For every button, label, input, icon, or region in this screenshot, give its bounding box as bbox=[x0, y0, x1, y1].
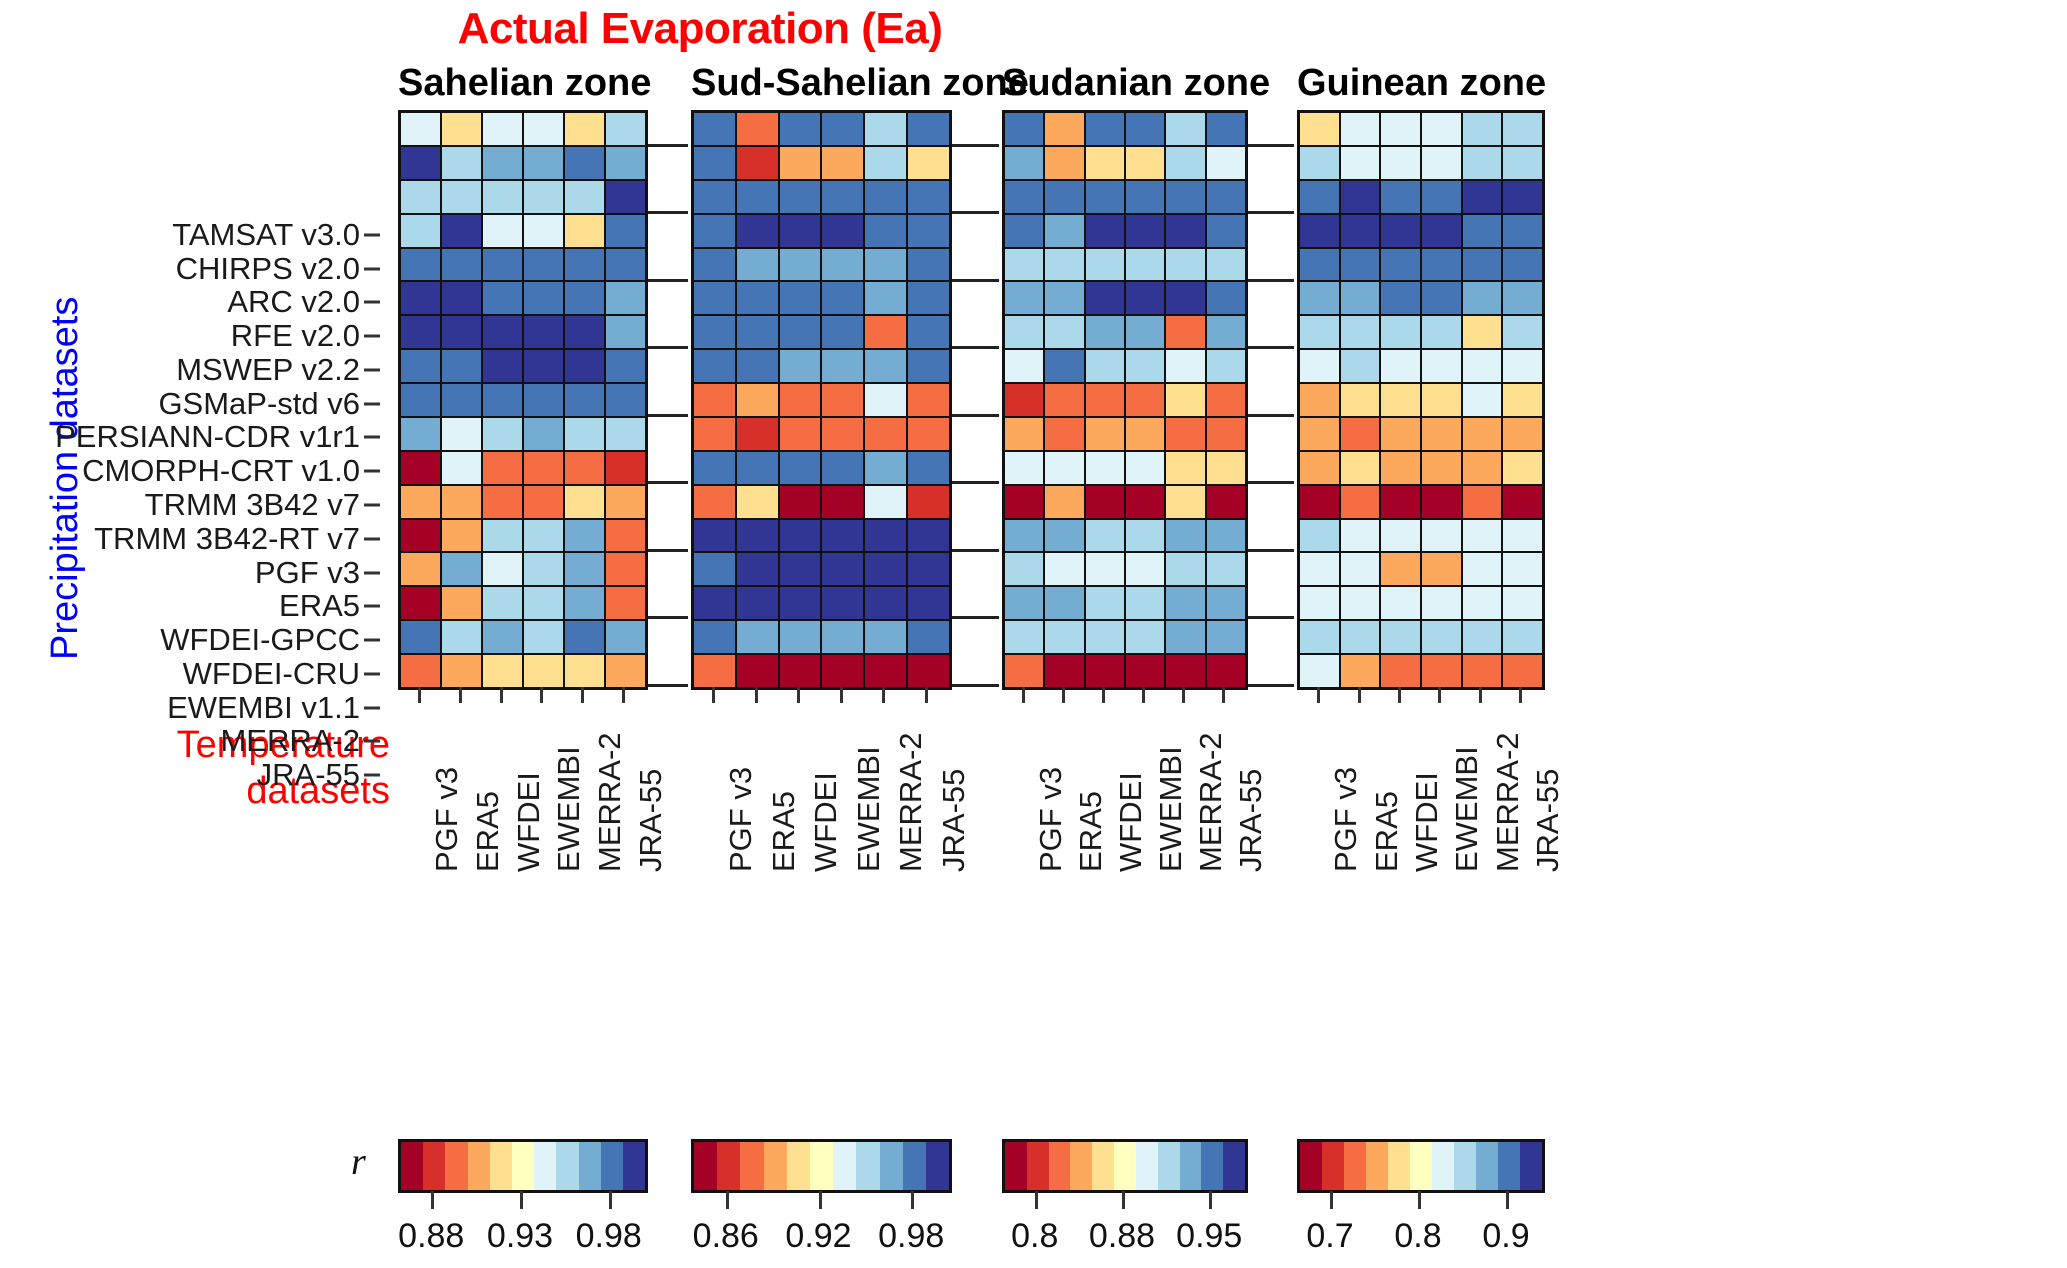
heatmap-cell[interactable] bbox=[908, 350, 949, 382]
heatmap-cell[interactable] bbox=[865, 316, 906, 348]
heatmap-cell[interactable] bbox=[1300, 418, 1339, 450]
heatmap-cell[interactable] bbox=[822, 587, 863, 619]
heatmap-cell[interactable] bbox=[908, 181, 949, 213]
heatmap-cell[interactable] bbox=[1005, 181, 1043, 213]
heatmap-cell[interactable] bbox=[1381, 553, 1420, 585]
heatmap-cell[interactable] bbox=[908, 384, 949, 416]
heatmap-cell[interactable] bbox=[1126, 418, 1164, 450]
heatmap-cell[interactable] bbox=[1005, 282, 1043, 314]
heatmap-cell[interactable] bbox=[780, 147, 821, 179]
heatmap-cell[interactable] bbox=[565, 621, 604, 653]
heatmap-cell[interactable] bbox=[1381, 350, 1420, 382]
heatmap-cell[interactable] bbox=[1422, 486, 1461, 518]
heatmap-cell[interactable] bbox=[1207, 282, 1245, 314]
heatmap-cell[interactable] bbox=[737, 418, 778, 450]
heatmap-cell[interactable] bbox=[483, 452, 522, 484]
heatmap-cell[interactable] bbox=[1341, 316, 1380, 348]
heatmap-cell[interactable] bbox=[1126, 282, 1164, 314]
heatmap-cell[interactable] bbox=[606, 418, 645, 450]
heatmap-cell[interactable] bbox=[565, 452, 604, 484]
heatmap-cell[interactable] bbox=[1300, 316, 1339, 348]
heatmap-cell[interactable] bbox=[1086, 621, 1124, 653]
heatmap-cell[interactable] bbox=[1126, 452, 1164, 484]
heatmap-cell[interactable] bbox=[1503, 215, 1542, 247]
heatmap-cell[interactable] bbox=[1126, 486, 1164, 518]
heatmap-cell[interactable] bbox=[1463, 587, 1502, 619]
heatmap-cell[interactable] bbox=[1463, 621, 1502, 653]
heatmap-cell[interactable] bbox=[1005, 621, 1043, 653]
heatmap-cell[interactable] bbox=[780, 587, 821, 619]
heatmap-cell[interactable] bbox=[1126, 520, 1164, 552]
heatmap-cell[interactable] bbox=[442, 655, 481, 687]
heatmap-cell[interactable] bbox=[1503, 282, 1542, 314]
heatmap-cell[interactable] bbox=[1300, 486, 1339, 518]
heatmap-cell[interactable] bbox=[565, 181, 604, 213]
heatmap-cell[interactable] bbox=[865, 621, 906, 653]
heatmap-cell[interactable] bbox=[1463, 655, 1502, 687]
heatmap-cell[interactable] bbox=[401, 520, 440, 552]
heatmap-cell[interactable] bbox=[1086, 452, 1124, 484]
heatmap-cell[interactable] bbox=[1341, 655, 1380, 687]
heatmap-cell[interactable] bbox=[606, 282, 645, 314]
heatmap-cell[interactable] bbox=[694, 181, 735, 213]
heatmap-cell[interactable] bbox=[1005, 147, 1043, 179]
heatmap-cell[interactable] bbox=[524, 621, 563, 653]
heatmap-cell[interactable] bbox=[401, 316, 440, 348]
heatmap-cell[interactable] bbox=[1045, 621, 1083, 653]
heatmap-cell[interactable] bbox=[908, 621, 949, 653]
heatmap-cell[interactable] bbox=[1045, 418, 1083, 450]
heatmap-cell[interactable] bbox=[483, 249, 522, 281]
heatmap-cell[interactable] bbox=[524, 249, 563, 281]
heatmap-cell[interactable] bbox=[822, 553, 863, 585]
heatmap-cell[interactable] bbox=[737, 655, 778, 687]
heatmap-cell[interactable] bbox=[780, 316, 821, 348]
heatmap-cell[interactable] bbox=[565, 520, 604, 552]
heatmap-cell[interactable] bbox=[1086, 350, 1124, 382]
heatmap-cell[interactable] bbox=[737, 621, 778, 653]
heatmap-cell[interactable] bbox=[694, 452, 735, 484]
heatmap-cell[interactable] bbox=[442, 147, 481, 179]
heatmap-cell[interactable] bbox=[606, 181, 645, 213]
heatmap-cell[interactable] bbox=[1166, 553, 1204, 585]
heatmap-cell[interactable] bbox=[1422, 452, 1461, 484]
heatmap-cell[interactable] bbox=[780, 249, 821, 281]
heatmap-cell[interactable] bbox=[694, 587, 735, 619]
heatmap-cell[interactable] bbox=[1503, 147, 1542, 179]
heatmap-cell[interactable] bbox=[780, 282, 821, 314]
heatmap-cell[interactable] bbox=[565, 113, 604, 145]
heatmap-cell[interactable] bbox=[908, 418, 949, 450]
heatmap-cell[interactable] bbox=[737, 520, 778, 552]
heatmap-cell[interactable] bbox=[565, 316, 604, 348]
heatmap-cell[interactable] bbox=[908, 452, 949, 484]
heatmap-cell[interactable] bbox=[524, 384, 563, 416]
heatmap-cell[interactable] bbox=[401, 486, 440, 518]
heatmap-cell[interactable] bbox=[1086, 282, 1124, 314]
heatmap-cell[interactable] bbox=[442, 418, 481, 450]
heatmap-cell[interactable] bbox=[1341, 215, 1380, 247]
heatmap-cell[interactable] bbox=[1300, 553, 1339, 585]
heatmap-cell[interactable] bbox=[1207, 181, 1245, 213]
heatmap-cell[interactable] bbox=[1005, 249, 1043, 281]
heatmap-cell[interactable] bbox=[780, 655, 821, 687]
heatmap-cell[interactable] bbox=[1463, 147, 1502, 179]
heatmap-cell[interactable] bbox=[1300, 452, 1339, 484]
heatmap-cell[interactable] bbox=[1341, 418, 1380, 450]
heatmap-cell[interactable] bbox=[1341, 113, 1380, 145]
heatmap-cell[interactable] bbox=[401, 350, 440, 382]
heatmap-cell[interactable] bbox=[1381, 587, 1420, 619]
heatmap-cell[interactable] bbox=[1166, 486, 1204, 518]
heatmap-cell[interactable] bbox=[1381, 520, 1420, 552]
heatmap-cell[interactable] bbox=[694, 249, 735, 281]
heatmap-cell[interactable] bbox=[1086, 553, 1124, 585]
heatmap-cell[interactable] bbox=[606, 249, 645, 281]
heatmap-cell[interactable] bbox=[606, 553, 645, 585]
heatmap-cell[interactable] bbox=[1422, 147, 1461, 179]
heatmap-cell[interactable] bbox=[442, 486, 481, 518]
heatmap-cell[interactable] bbox=[1341, 350, 1380, 382]
heatmap-cell[interactable] bbox=[865, 587, 906, 619]
heatmap-cell[interactable] bbox=[822, 520, 863, 552]
heatmap-cell[interactable] bbox=[1045, 350, 1083, 382]
heatmap-cell[interactable] bbox=[1503, 113, 1542, 145]
heatmap-cell[interactable] bbox=[780, 486, 821, 518]
heatmap-cell[interactable] bbox=[483, 316, 522, 348]
heatmap-cell[interactable] bbox=[865, 655, 906, 687]
heatmap-cell[interactable] bbox=[524, 486, 563, 518]
heatmap-cell[interactable] bbox=[1300, 655, 1339, 687]
heatmap-cell[interactable] bbox=[1045, 147, 1083, 179]
heatmap-cell[interactable] bbox=[606, 486, 645, 518]
heatmap-cell[interactable] bbox=[1381, 486, 1420, 518]
heatmap-cell[interactable] bbox=[1381, 181, 1420, 213]
heatmap-cell[interactable] bbox=[524, 553, 563, 585]
heatmap-cell[interactable] bbox=[483, 553, 522, 585]
heatmap-cell[interactable] bbox=[1045, 181, 1083, 213]
heatmap-cell[interactable] bbox=[442, 587, 481, 619]
heatmap-cell[interactable] bbox=[1166, 249, 1204, 281]
heatmap-cell[interactable] bbox=[737, 553, 778, 585]
heatmap-cell[interactable] bbox=[1045, 215, 1083, 247]
heatmap-cell[interactable] bbox=[1503, 316, 1542, 348]
heatmap-cell[interactable] bbox=[524, 350, 563, 382]
heatmap-cell[interactable] bbox=[483, 587, 522, 619]
heatmap-cell[interactable] bbox=[908, 655, 949, 687]
heatmap-cell[interactable] bbox=[483, 215, 522, 247]
heatmap-cell[interactable] bbox=[442, 452, 481, 484]
heatmap-cell[interactable] bbox=[565, 553, 604, 585]
heatmap-cell[interactable] bbox=[908, 249, 949, 281]
heatmap-cell[interactable] bbox=[565, 215, 604, 247]
heatmap-cell[interactable] bbox=[1166, 113, 1204, 145]
heatmap-cell[interactable] bbox=[1207, 316, 1245, 348]
heatmap-cell[interactable] bbox=[1207, 553, 1245, 585]
heatmap-cell[interactable] bbox=[1422, 553, 1461, 585]
heatmap-cell[interactable] bbox=[1207, 249, 1245, 281]
heatmap-cell[interactable] bbox=[1045, 587, 1083, 619]
heatmap-grid[interactable] bbox=[1002, 110, 1248, 690]
heatmap-cell[interactable] bbox=[822, 113, 863, 145]
heatmap-cell[interactable] bbox=[1341, 520, 1380, 552]
heatmap-cell[interactable] bbox=[1166, 418, 1204, 450]
heatmap-cell[interactable] bbox=[483, 520, 522, 552]
heatmap-cell[interactable] bbox=[1341, 621, 1380, 653]
heatmap-cell[interactable] bbox=[1166, 452, 1204, 484]
heatmap-cell[interactable] bbox=[524, 215, 563, 247]
heatmap-cell[interactable] bbox=[865, 384, 906, 416]
heatmap-cell[interactable] bbox=[1005, 350, 1043, 382]
heatmap-cell[interactable] bbox=[1126, 113, 1164, 145]
heatmap-cell[interactable] bbox=[1422, 282, 1461, 314]
heatmap-cell[interactable] bbox=[822, 486, 863, 518]
heatmap-cell[interactable] bbox=[908, 282, 949, 314]
heatmap-cell[interactable] bbox=[401, 655, 440, 687]
heatmap-cell[interactable] bbox=[1381, 452, 1420, 484]
heatmap-cell[interactable] bbox=[1166, 181, 1204, 213]
heatmap-cell[interactable] bbox=[865, 452, 906, 484]
heatmap-cell[interactable] bbox=[401, 215, 440, 247]
heatmap-cell[interactable] bbox=[822, 282, 863, 314]
heatmap-cell[interactable] bbox=[401, 587, 440, 619]
heatmap-cell[interactable] bbox=[1422, 316, 1461, 348]
heatmap-cell[interactable] bbox=[1086, 418, 1124, 450]
heatmap-cell[interactable] bbox=[1300, 520, 1339, 552]
heatmap-cell[interactable] bbox=[1086, 249, 1124, 281]
heatmap-cell[interactable] bbox=[1503, 181, 1542, 213]
heatmap-cell[interactable] bbox=[1207, 520, 1245, 552]
heatmap-cell[interactable] bbox=[401, 418, 440, 450]
heatmap-cell[interactable] bbox=[1207, 350, 1245, 382]
heatmap-cell[interactable] bbox=[606, 621, 645, 653]
heatmap-cell[interactable] bbox=[565, 655, 604, 687]
heatmap-cell[interactable] bbox=[1422, 249, 1461, 281]
heatmap-cell[interactable] bbox=[1005, 655, 1043, 687]
heatmap-cell[interactable] bbox=[1207, 418, 1245, 450]
heatmap-cell[interactable] bbox=[483, 181, 522, 213]
heatmap-cell[interactable] bbox=[401, 553, 440, 585]
heatmap-cell[interactable] bbox=[401, 147, 440, 179]
heatmap-cell[interactable] bbox=[524, 655, 563, 687]
heatmap-cell[interactable] bbox=[1045, 486, 1083, 518]
heatmap-cell[interactable] bbox=[1503, 553, 1542, 585]
heatmap-cell[interactable] bbox=[1126, 181, 1164, 213]
heatmap-cell[interactable] bbox=[694, 486, 735, 518]
heatmap-cell[interactable] bbox=[1126, 621, 1164, 653]
heatmap-cell[interactable] bbox=[1005, 418, 1043, 450]
heatmap-cell[interactable] bbox=[694, 350, 735, 382]
heatmap-cell[interactable] bbox=[865, 249, 906, 281]
heatmap-cell[interactable] bbox=[524, 452, 563, 484]
heatmap-cell[interactable] bbox=[822, 384, 863, 416]
heatmap-cell[interactable] bbox=[737, 282, 778, 314]
heatmap-cell[interactable] bbox=[1045, 553, 1083, 585]
heatmap-cell[interactable] bbox=[565, 384, 604, 416]
heatmap-cell[interactable] bbox=[483, 350, 522, 382]
heatmap-cell[interactable] bbox=[1207, 621, 1245, 653]
heatmap-cell[interactable] bbox=[1086, 655, 1124, 687]
heatmap-cell[interactable] bbox=[1126, 147, 1164, 179]
heatmap-cell[interactable] bbox=[1341, 553, 1380, 585]
heatmap-cell[interactable] bbox=[694, 655, 735, 687]
heatmap-cell[interactable] bbox=[1463, 418, 1502, 450]
heatmap-cell[interactable] bbox=[1086, 384, 1124, 416]
heatmap-cell[interactable] bbox=[1005, 553, 1043, 585]
heatmap-cell[interactable] bbox=[1300, 621, 1339, 653]
heatmap-cell[interactable] bbox=[737, 181, 778, 213]
heatmap-cell[interactable] bbox=[565, 587, 604, 619]
heatmap-cell[interactable] bbox=[865, 553, 906, 585]
heatmap-cell[interactable] bbox=[483, 282, 522, 314]
heatmap-cell[interactable] bbox=[780, 181, 821, 213]
heatmap-cell[interactable] bbox=[1463, 452, 1502, 484]
heatmap-cell[interactable] bbox=[401, 249, 440, 281]
heatmap-cell[interactable] bbox=[822, 249, 863, 281]
heatmap-cell[interactable] bbox=[737, 113, 778, 145]
heatmap-cell[interactable] bbox=[737, 215, 778, 247]
heatmap-cell[interactable] bbox=[1166, 587, 1204, 619]
heatmap-cell[interactable] bbox=[1381, 147, 1420, 179]
heatmap-cell[interactable] bbox=[1300, 384, 1339, 416]
heatmap-cell[interactable] bbox=[694, 520, 735, 552]
heatmap-cell[interactable] bbox=[822, 452, 863, 484]
heatmap-cell[interactable] bbox=[1207, 486, 1245, 518]
heatmap-cell[interactable] bbox=[1045, 384, 1083, 416]
heatmap-cell[interactable] bbox=[442, 113, 481, 145]
heatmap-cell[interactable] bbox=[565, 282, 604, 314]
heatmap-cell[interactable] bbox=[694, 147, 735, 179]
heatmap-cell[interactable] bbox=[1463, 282, 1502, 314]
heatmap-cell[interactable] bbox=[401, 113, 440, 145]
heatmap-cell[interactable] bbox=[1381, 655, 1420, 687]
heatmap-cell[interactable] bbox=[1126, 249, 1164, 281]
heatmap-cell[interactable] bbox=[1045, 520, 1083, 552]
heatmap-cell[interactable] bbox=[1422, 587, 1461, 619]
heatmap-cell[interactable] bbox=[524, 316, 563, 348]
heatmap-cell[interactable] bbox=[737, 452, 778, 484]
heatmap-cell[interactable] bbox=[1463, 520, 1502, 552]
heatmap-cell[interactable] bbox=[606, 587, 645, 619]
heatmap-cell[interactable] bbox=[565, 418, 604, 450]
heatmap-cell[interactable] bbox=[1463, 249, 1502, 281]
heatmap-cell[interactable] bbox=[401, 181, 440, 213]
heatmap-cell[interactable] bbox=[1341, 384, 1380, 416]
heatmap-cell[interactable] bbox=[483, 384, 522, 416]
heatmap-cell[interactable] bbox=[565, 147, 604, 179]
heatmap-cell[interactable] bbox=[401, 621, 440, 653]
heatmap-cell[interactable] bbox=[908, 553, 949, 585]
heatmap-cell[interactable] bbox=[1503, 621, 1542, 653]
heatmap-cell[interactable] bbox=[1381, 316, 1420, 348]
heatmap-cell[interactable] bbox=[780, 418, 821, 450]
heatmap-cell[interactable] bbox=[1166, 282, 1204, 314]
heatmap-grid[interactable] bbox=[691, 110, 952, 690]
heatmap-cell[interactable] bbox=[1422, 181, 1461, 213]
heatmap-cell[interactable] bbox=[780, 452, 821, 484]
heatmap-cell[interactable] bbox=[908, 147, 949, 179]
heatmap-cell[interactable] bbox=[565, 486, 604, 518]
heatmap-cell[interactable] bbox=[606, 655, 645, 687]
heatmap-cell[interactable] bbox=[1422, 621, 1461, 653]
heatmap-cell[interactable] bbox=[1005, 113, 1043, 145]
heatmap-cell[interactable] bbox=[524, 418, 563, 450]
heatmap-cell[interactable] bbox=[1126, 384, 1164, 416]
heatmap-cell[interactable] bbox=[694, 316, 735, 348]
heatmap-cell[interactable] bbox=[865, 215, 906, 247]
heatmap-cell[interactable] bbox=[1422, 520, 1461, 552]
heatmap-cell[interactable] bbox=[1005, 587, 1043, 619]
heatmap-cell[interactable] bbox=[1422, 350, 1461, 382]
heatmap-cell[interactable] bbox=[1341, 249, 1380, 281]
heatmap-cell[interactable] bbox=[1166, 350, 1204, 382]
heatmap-grid[interactable] bbox=[398, 110, 648, 690]
heatmap-cell[interactable] bbox=[1166, 621, 1204, 653]
heatmap-cell[interactable] bbox=[865, 181, 906, 213]
heatmap-cell[interactable] bbox=[780, 553, 821, 585]
heatmap-cell[interactable] bbox=[524, 282, 563, 314]
heatmap-cell[interactable] bbox=[1503, 350, 1542, 382]
heatmap-cell[interactable] bbox=[483, 655, 522, 687]
heatmap-cell[interactable] bbox=[908, 486, 949, 518]
heatmap-cell[interactable] bbox=[606, 113, 645, 145]
heatmap-cell[interactable] bbox=[1422, 418, 1461, 450]
heatmap-cell[interactable] bbox=[442, 215, 481, 247]
heatmap-cell[interactable] bbox=[1045, 113, 1083, 145]
heatmap-cell[interactable] bbox=[1086, 587, 1124, 619]
heatmap-cell[interactable] bbox=[1381, 282, 1420, 314]
heatmap-cell[interactable] bbox=[1300, 181, 1339, 213]
heatmap-cell[interactable] bbox=[606, 350, 645, 382]
heatmap-cell[interactable] bbox=[1300, 113, 1339, 145]
heatmap-cell[interactable] bbox=[822, 181, 863, 213]
heatmap-cell[interactable] bbox=[1005, 316, 1043, 348]
heatmap-cell[interactable] bbox=[1381, 215, 1420, 247]
heatmap-cell[interactable] bbox=[606, 520, 645, 552]
heatmap-cell[interactable] bbox=[822, 418, 863, 450]
heatmap-cell[interactable] bbox=[1422, 113, 1461, 145]
heatmap-cell[interactable] bbox=[780, 215, 821, 247]
heatmap-cell[interactable] bbox=[1086, 147, 1124, 179]
heatmap-cell[interactable] bbox=[1381, 384, 1420, 416]
heatmap-cell[interactable] bbox=[1300, 215, 1339, 247]
heatmap-cell[interactable] bbox=[1045, 655, 1083, 687]
heatmap-cell[interactable] bbox=[1422, 384, 1461, 416]
heatmap-cell[interactable] bbox=[442, 553, 481, 585]
heatmap-cell[interactable] bbox=[565, 350, 604, 382]
heatmap-cell[interactable] bbox=[442, 384, 481, 416]
heatmap-cell[interactable] bbox=[442, 316, 481, 348]
heatmap-cell[interactable] bbox=[822, 316, 863, 348]
heatmap-cell[interactable] bbox=[822, 147, 863, 179]
heatmap-cell[interactable] bbox=[1045, 282, 1083, 314]
heatmap-cell[interactable] bbox=[1422, 215, 1461, 247]
heatmap-cell[interactable] bbox=[1463, 486, 1502, 518]
heatmap-cell[interactable] bbox=[1005, 384, 1043, 416]
heatmap-cell[interactable] bbox=[606, 384, 645, 416]
heatmap-cell[interactable] bbox=[1126, 350, 1164, 382]
heatmap-cell[interactable] bbox=[1166, 655, 1204, 687]
heatmap-cell[interactable] bbox=[606, 215, 645, 247]
heatmap-cell[interactable] bbox=[565, 249, 604, 281]
heatmap-cell[interactable] bbox=[1381, 418, 1420, 450]
heatmap-cell[interactable] bbox=[780, 384, 821, 416]
heatmap-cell[interactable] bbox=[1503, 655, 1542, 687]
heatmap-cell[interactable] bbox=[1341, 452, 1380, 484]
heatmap-cell[interactable] bbox=[694, 621, 735, 653]
heatmap-cell[interactable] bbox=[442, 350, 481, 382]
heatmap-cell[interactable] bbox=[1381, 249, 1420, 281]
